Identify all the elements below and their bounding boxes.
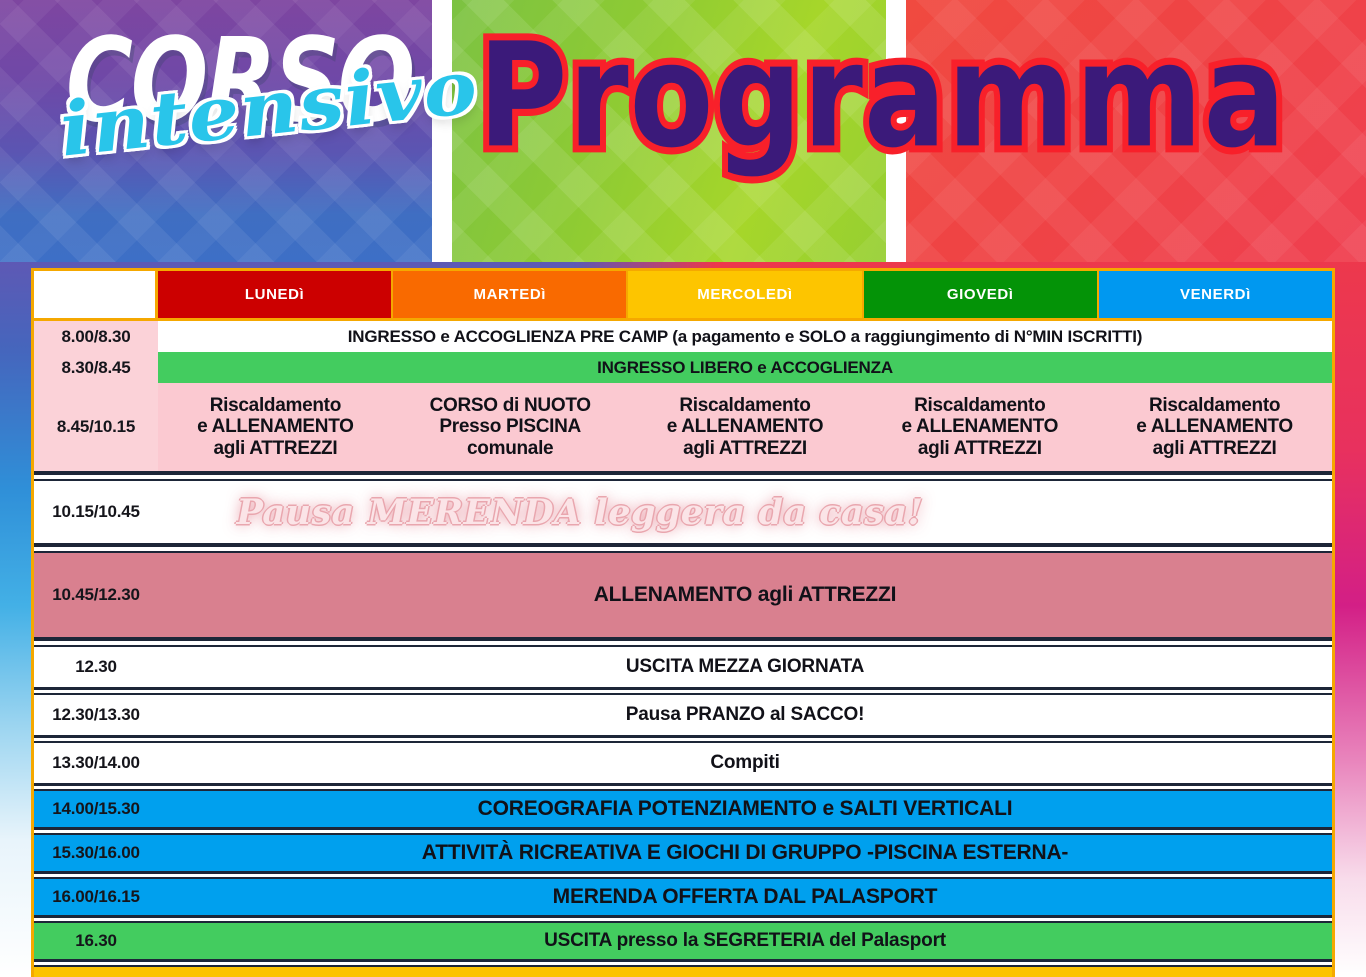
row-separator bbox=[34, 915, 1332, 923]
activity-cell-mercoledi: Riscaldamentoe ALLENAMENTOagli ATTREZZI bbox=[628, 383, 863, 471]
poster-root: CORSO intensivo Programma LUNEDì MARTEDì… bbox=[0, 0, 1366, 977]
row-content-script: Pausa MERENDA leggera da casa! bbox=[158, 481, 1332, 543]
activity-cell-martedi: CORSO di NUOTOPresso PISCINAcomunale bbox=[393, 383, 628, 471]
row-time: 17.00 bbox=[34, 967, 158, 977]
row-content-columns: Riscaldamentoe ALLENAMENTOagli ATTREZZI … bbox=[158, 383, 1332, 471]
row-content: Compiti bbox=[158, 743, 1332, 783]
table-row: 15.30/16.00 ATTIVITÀ RICREATIVA E GIOCHI… bbox=[34, 835, 1332, 871]
row-separator bbox=[34, 687, 1332, 695]
day-header-giovedi[interactable]: GIOVEDì bbox=[864, 271, 1099, 318]
row-content: USCITA POST-CAMP presso la SEGRETERIA de… bbox=[158, 967, 1332, 977]
header-time-cell bbox=[34, 271, 158, 318]
day-header-mercoledi[interactable]: MERCOLEDì bbox=[628, 271, 863, 318]
row-content: USCITA presso la SEGRETERIA del Palaspor… bbox=[158, 923, 1332, 959]
table-row: 10.15/10.45 Pausa MERENDA leggera da cas… bbox=[34, 481, 1332, 543]
row-content: MERENDA OFFERTA DAL PALASPORT bbox=[158, 879, 1332, 915]
activity-cell-venerdi: Riscaldamentoe ALLENAMENTOagli ATTREZZI bbox=[1097, 383, 1332, 471]
row-content: Pausa PRANZO al SACCO! bbox=[158, 695, 1332, 735]
row-time: 15.30/16.00 bbox=[34, 835, 158, 871]
row-time: 10.45/12.30 bbox=[34, 553, 158, 637]
row-separator bbox=[34, 827, 1332, 835]
row-separator bbox=[34, 871, 1332, 879]
row-time: 13.30/14.00 bbox=[34, 743, 158, 783]
table-row: 12.30 USCITA MEZZA GIORNATA bbox=[34, 647, 1332, 687]
row-content: INGRESSO e ACCOGLIENZA PRE CAMP (a pagam… bbox=[158, 321, 1332, 352]
schedule-table: LUNEDì MARTEDì MERCOLEDì GIOVEDì VENERDì… bbox=[31, 268, 1335, 977]
row-separator bbox=[34, 543, 1332, 553]
row-time: 8.45/10.15 bbox=[34, 383, 158, 471]
day-header-venerdi[interactable]: VENERDì bbox=[1099, 271, 1332, 318]
row-time: 16.00/16.15 bbox=[34, 879, 158, 915]
table-row: 14.00/15.30 COREOGRAFIA POTENZIAMENTO e … bbox=[34, 791, 1332, 827]
table-body: 8.00/8.30 INGRESSO e ACCOGLIENZA PRE CAM… bbox=[31, 321, 1335, 977]
day-header-martedi[interactable]: MARTEDì bbox=[393, 271, 628, 318]
title-programma: Programma bbox=[478, 12, 1287, 180]
table-row: 8.45/10.15 Riscaldamentoe ALLENAMENTOagl… bbox=[34, 383, 1332, 471]
row-content: ALLENAMENTO agli ATTREZZI bbox=[158, 553, 1332, 637]
table-row: 16.30 USCITA presso la SEGRETERIA del Pa… bbox=[34, 923, 1332, 959]
day-header-lunedi[interactable]: LUNEDì bbox=[158, 271, 393, 318]
row-separator bbox=[34, 735, 1332, 743]
row-time: 8.30/8.45 bbox=[34, 352, 158, 383]
table-header-row: LUNEDì MARTEDì MERCOLEDì GIOVEDì VENERDì bbox=[31, 268, 1335, 321]
row-time: 14.00/15.30 bbox=[34, 791, 158, 827]
table-row: 16.00/16.15 MERENDA OFFERTA DAL PALASPOR… bbox=[34, 879, 1332, 915]
row-time: 12.30/13.30 bbox=[34, 695, 158, 735]
row-time: 10.15/10.45 bbox=[34, 481, 158, 543]
row-content: INGRESSO LIBERO e ACCOGLIENZA bbox=[158, 352, 1332, 383]
row-separator bbox=[34, 783, 1332, 791]
row-separator bbox=[34, 637, 1332, 647]
activity-cell-lunedi: Riscaldamentoe ALLENAMENTOagli ATTREZZI bbox=[158, 383, 393, 471]
table-row: 13.30/14.00 Compiti bbox=[34, 743, 1332, 783]
table-row: 8.00/8.30 INGRESSO e ACCOGLIENZA PRE CAM… bbox=[34, 321, 1332, 352]
row-content: USCITA MEZZA GIORNATA bbox=[158, 647, 1332, 687]
row-separator bbox=[34, 471, 1332, 481]
row-content: COREOGRAFIA POTENZIAMENTO e SALTI VERTIC… bbox=[158, 791, 1332, 827]
row-time: 8.00/8.30 bbox=[34, 321, 158, 352]
row-separator bbox=[34, 959, 1332, 967]
table-row: 17.00 USCITA POST-CAMP presso la SEGRETE… bbox=[34, 967, 1332, 977]
row-content: ATTIVITÀ RICREATIVA E GIOCHI DI GRUPPO -… bbox=[158, 835, 1332, 871]
activity-cell-giovedi: Riscaldamentoe ALLENAMENTOagli ATTREZZI bbox=[862, 383, 1097, 471]
row-time: 12.30 bbox=[34, 647, 158, 687]
row-time: 16.30 bbox=[34, 923, 158, 959]
table-row: 8.30/8.45 INGRESSO LIBERO e ACCOGLIENZA bbox=[34, 352, 1332, 383]
table-row: 12.30/13.30 Pausa PRANZO al SACCO! bbox=[34, 695, 1332, 735]
table-row: 10.45/12.30 ALLENAMENTO agli ATTREZZI bbox=[34, 553, 1332, 637]
